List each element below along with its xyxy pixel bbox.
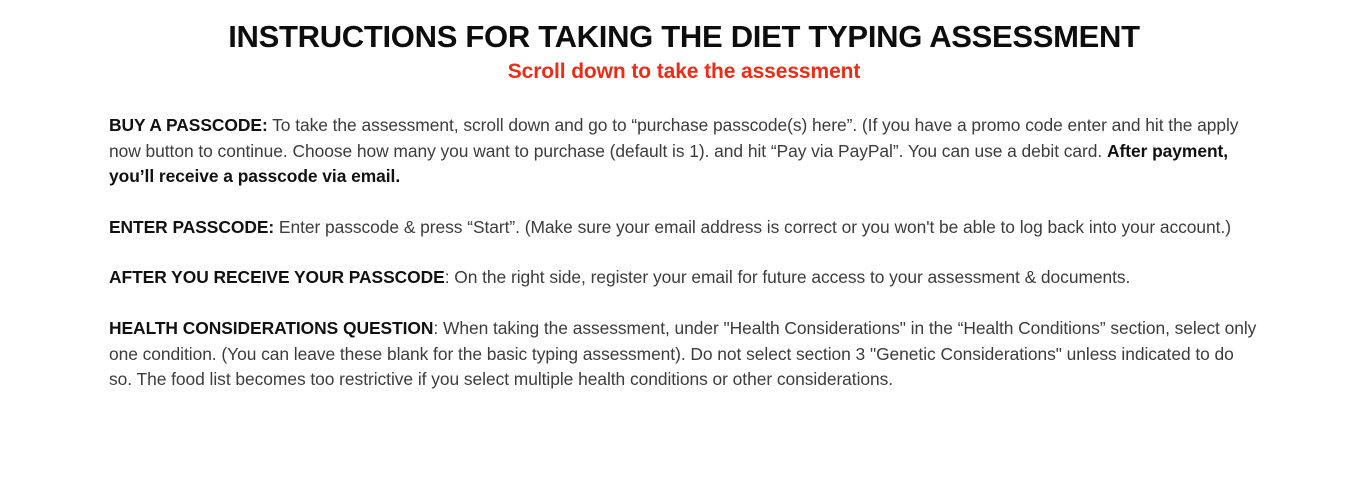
paragraph-health-considerations-question: HEALTH CONSIDERATIONS QUESTION: When tak…	[109, 316, 1259, 393]
page-header: INSTRUCTIONS FOR TAKING THE DIET TYPING …	[0, 0, 1368, 86]
emphasis-text: AFTER YOU RECEIVE YOUR PASSCODE	[109, 267, 445, 287]
page-title: INSTRUCTIONS FOR TAKING THE DIET TYPING …	[0, 19, 1368, 55]
emphasis-text: After payment, you’ll receive a passcode…	[109, 141, 1228, 187]
instructions-body: BUY A PASSCODE: To take the assessment, …	[109, 86, 1259, 393]
paragraph-after-you-receive-your-passcode: AFTER YOU RECEIVE YOUR PASSCODE: On the …	[109, 265, 1259, 291]
emphasis-text: BUY A PASSCODE:	[109, 115, 268, 135]
paragraph-buy-a-passcode: BUY A PASSCODE: To take the assessment, …	[109, 113, 1259, 190]
emphasis-text: ENTER PASSCODE:	[109, 217, 274, 237]
instructions-page: INSTRUCTIONS FOR TAKING THE DIET TYPING …	[0, 0, 1368, 500]
paragraph-enter-passcode: ENTER PASSCODE: Enter passcode & press “…	[109, 215, 1259, 241]
emphasis-text: HEALTH CONSIDERATIONS QUESTION	[109, 318, 433, 338]
page-subtitle: Scroll down to take the assessment	[0, 58, 1368, 86]
